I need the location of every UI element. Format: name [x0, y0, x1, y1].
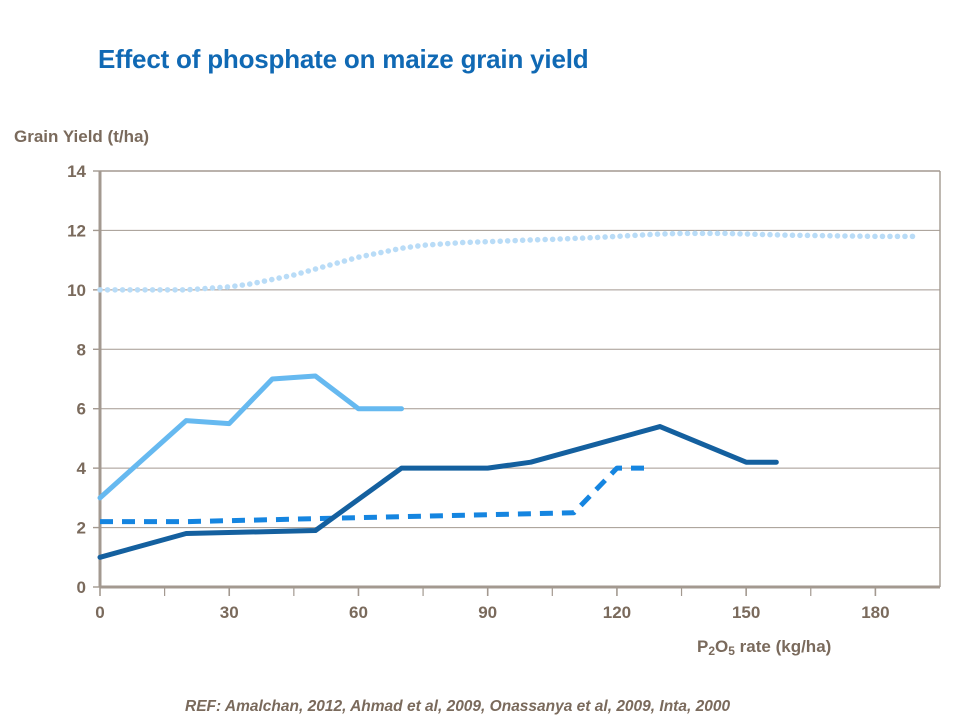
data-series-group [100, 233, 918, 557]
series-dashed-blue [100, 468, 647, 521]
y-tick-label: 2 [77, 519, 86, 538]
x-tick-label: 180 [861, 603, 889, 622]
x-axis-title-sub-2: 2 [708, 644, 715, 658]
x-axis-title-o: O [715, 637, 728, 656]
line-chart: 02468101214 0306090120150180 [0, 0, 960, 720]
series-dotted-pale-blue [100, 233, 918, 289]
x-tick-label: 60 [349, 603, 368, 622]
x-tick-label: 120 [603, 603, 631, 622]
x-tick-label: 150 [732, 603, 760, 622]
y-tick-label: 8 [77, 340, 86, 359]
y-tick-label: 12 [67, 221, 86, 240]
reference-note: REF: Amalchan, 2012, Ahmad et al, 2009, … [185, 698, 730, 716]
y-tick-label: 6 [77, 400, 86, 419]
y-tick-label: 10 [67, 281, 86, 300]
y-tick-label: 0 [77, 578, 86, 597]
x-axis-title: P2O5 rate (kg/ha) [697, 637, 831, 657]
x-axis-title-p: P [697, 637, 708, 656]
x-tick-label: 30 [220, 603, 239, 622]
y-tick-labels-group: 02468101214 [67, 162, 86, 597]
y-tick-label: 14 [67, 162, 86, 181]
x-tick-label: 0 [95, 603, 104, 622]
x-axis-title-sub-5: 5 [728, 644, 735, 658]
x-axis-title-rate: rate (kg/ha) [735, 637, 831, 656]
series-solid-light-blue [100, 376, 402, 498]
series-solid-dark-blue [100, 427, 776, 558]
x-tick-labels-group: 0306090120150180 [95, 603, 889, 622]
x-tick-label: 90 [478, 603, 497, 622]
y-tick-label: 4 [77, 459, 87, 478]
slide-canvas: Effect of phosphate on maize grain yield… [0, 0, 960, 720]
